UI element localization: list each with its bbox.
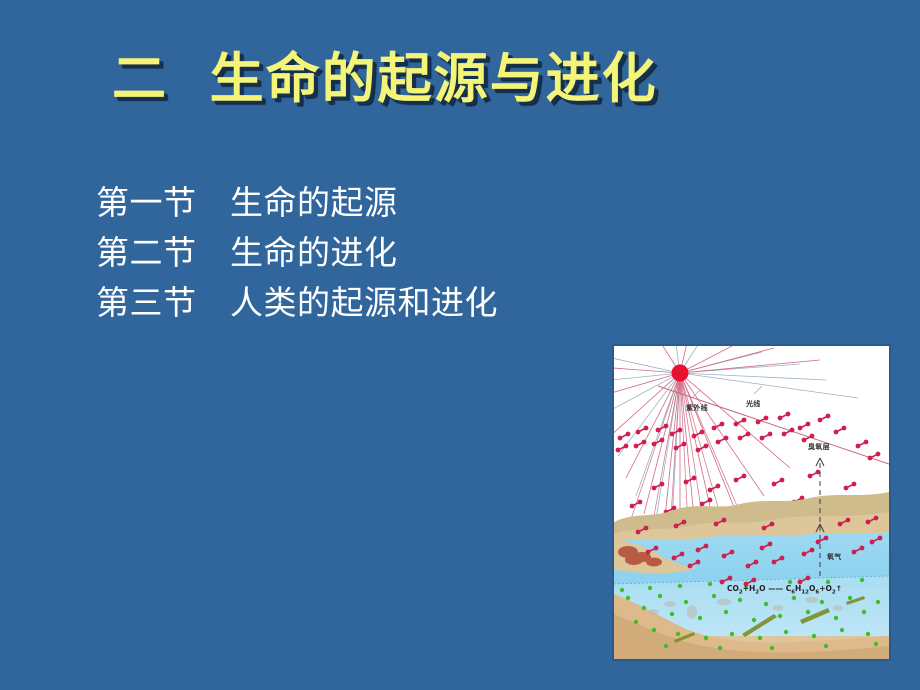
figure-image: 紫外线 光线 臭氧层 氧气 CO2+H2O —— C6H12O6+O2↑	[614, 346, 889, 659]
figure-label-oxygen-gas: 氧气	[827, 552, 842, 562]
figure-label-ozone-layer: 臭氧层	[808, 442, 830, 452]
section-item-3: 第三节 人类的起源和进化	[96, 278, 656, 328]
figure-label-photosynthesis-equation: CO2+H2O —— C6H12O6+O2↑	[727, 584, 842, 596]
page-title: 二 生命的起源与进化	[112, 52, 658, 106]
slide-canvas: 二 生命的起源与进化 第一节 生命的起源 第二节 生命的进化 第三节 人类的起源…	[0, 0, 920, 690]
section-item-1: 第一节 生命的起源	[96, 178, 656, 228]
figure-origin-of-life-diagram: 紫外线 光线 臭氧层 氧气 CO2+H2O —— C6H12O6+O2↑	[612, 344, 891, 661]
figure-illustration	[614, 346, 889, 659]
section-list: 第一节 生命的起源 第二节 生命的进化 第三节 人类的起源和进化	[96, 178, 656, 328]
figure-label-light-rays: 光线	[746, 399, 761, 409]
figure-label-uv-rays: 紫外线	[686, 403, 708, 413]
section-item-2: 第二节 生命的进化	[96, 228, 656, 278]
